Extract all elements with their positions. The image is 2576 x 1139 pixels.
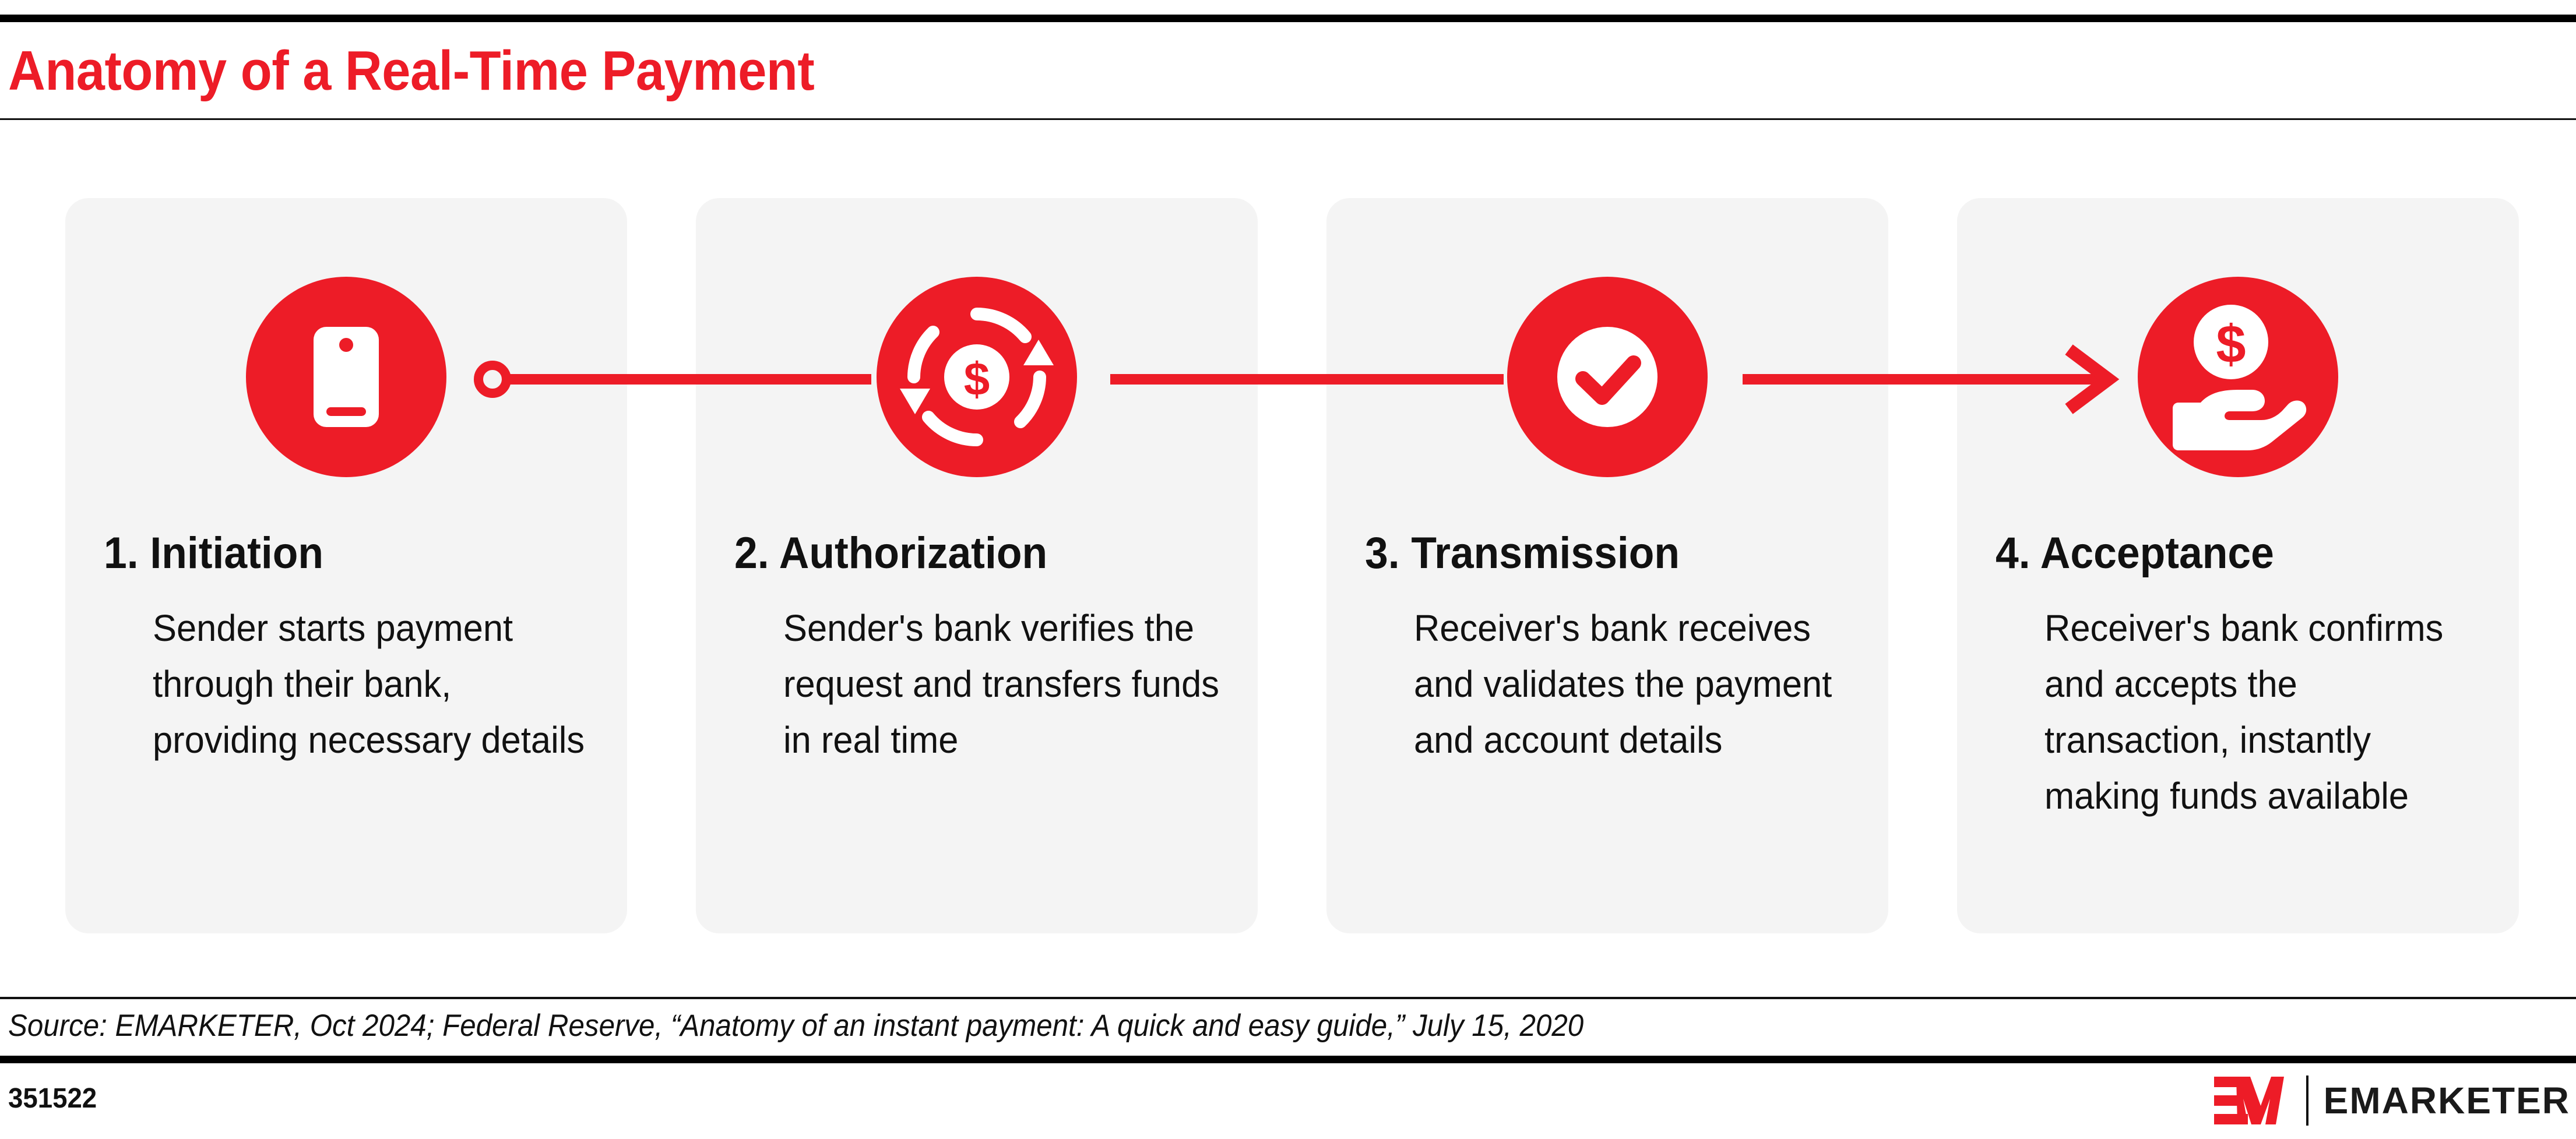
svg-text:$: $ bbox=[964, 353, 990, 405]
step-title: 4. Acceptance bbox=[1996, 529, 2274, 578]
step-description: Sender starts payment through their bank… bbox=[153, 600, 594, 768]
source-note: Source: EMARKETER, Oct 2024; Federal Res… bbox=[8, 1006, 1583, 1046]
em-monogram-icon bbox=[2214, 1075, 2293, 1126]
source-top-rule bbox=[0, 997, 2576, 999]
steps-container: 1. Initiation Sender starts payment thro… bbox=[65, 198, 2512, 933]
hand-holding-coin-icon: $ bbox=[2138, 277, 2338, 477]
svg-text:$: $ bbox=[2216, 315, 2246, 374]
logo-wordmark: EMARKETER bbox=[2324, 1080, 2570, 1121]
logo-divider bbox=[2306, 1075, 2308, 1126]
chart-id: 351522 bbox=[8, 1082, 97, 1115]
money-transfer-refresh-icon: $ bbox=[877, 277, 1077, 477]
top-black-rule bbox=[0, 15, 2576, 22]
footer-black-rule bbox=[0, 1056, 2576, 1063]
step-card-authorization[interactable]: $ 2. Authorization Sender's bank verifie… bbox=[696, 198, 1258, 933]
step-title: 2. Authorization bbox=[734, 529, 1047, 578]
check-circle-icon bbox=[1507, 277, 1708, 477]
title-underline-rule bbox=[0, 118, 2576, 120]
step-description: Receiver's bank receives and validates t… bbox=[1414, 600, 1856, 768]
step-title: 1. Initiation bbox=[104, 529, 323, 578]
step-title: 3. Transmission bbox=[1365, 529, 1680, 578]
emarketer-logo[interactable]: EMARKETER bbox=[2214, 1075, 2570, 1126]
mobile-phone-icon bbox=[246, 277, 446, 477]
step-card-transmission[interactable]: 3. Transmission Receiver's bank receives… bbox=[1326, 198, 1888, 933]
step-description: Receiver's bank confirms and accepts the… bbox=[2044, 600, 2486, 824]
step-card-initiation[interactable]: 1. Initiation Sender starts payment thro… bbox=[65, 198, 627, 933]
page-title: Anatomy of a Real-Time Payment bbox=[8, 36, 814, 106]
step-card-acceptance[interactable]: $ 4. Acceptance Receiver's bank confirms… bbox=[1957, 198, 2519, 933]
step-description: Sender's bank verifies the request and t… bbox=[783, 600, 1225, 768]
